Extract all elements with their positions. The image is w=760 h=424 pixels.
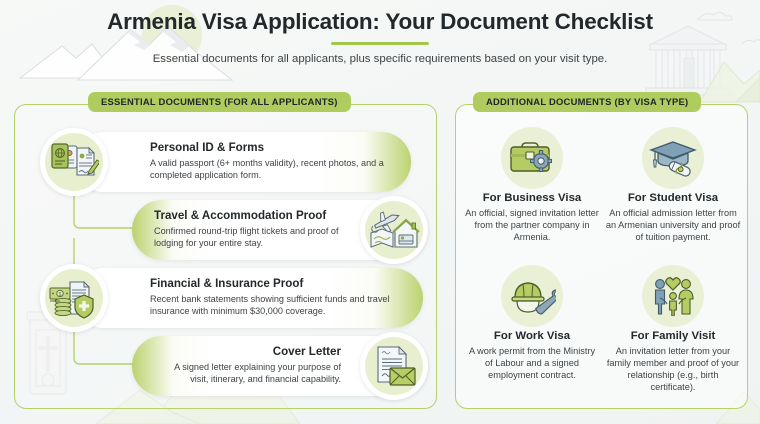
- visa-description: A work permit from the Ministry of Labou…: [464, 346, 600, 382]
- card-description: A valid passport (6+ months validity), r…: [150, 157, 389, 181]
- graduation-cap-diploma-icon: [642, 127, 704, 189]
- visa-title: For Work Visa: [464, 330, 600, 344]
- letter-envelope-icon: [360, 332, 428, 400]
- card-title: Cover Letter: [154, 345, 341, 359]
- card-title: Personal ID & Forms: [150, 141, 389, 155]
- visa-title: For Student Visa: [605, 192, 741, 206]
- hardhat-wrench-icon: [501, 265, 563, 327]
- visa-description: An official admission letter from an Arm…: [605, 208, 741, 244]
- card-description: Recent bank statements showing sufficien…: [150, 293, 401, 317]
- family-heart-icon: [642, 265, 704, 327]
- page-title: Armenia Visa Application: Your Document …: [0, 8, 760, 36]
- page-subtitle: Essential documents for all applicants, …: [0, 52, 760, 67]
- passport-id-form-icon: [40, 128, 108, 196]
- money-shield-icon: $: [40, 264, 108, 332]
- visa-cell-business: For Business Visa An official, signed in…: [464, 127, 600, 244]
- title-divider: [331, 42, 429, 45]
- svg-text:$: $: [59, 292, 62, 298]
- visa-description: An invitation letter from your family me…: [605, 346, 741, 394]
- visa-title: For Family Visit: [605, 330, 741, 344]
- checklist-card-financial-insurance: Financial & Insurance Proof Recent bank …: [74, 268, 423, 328]
- visa-cell-family: For Family Visit An invitation letter fr…: [605, 265, 741, 394]
- card-description: A signed letter explaining your purpose …: [154, 361, 341, 385]
- card-description: Confirmed round-trip flight tickets and …: [154, 225, 341, 249]
- visa-cell-student: For Student Visa An official admission l…: [605, 127, 741, 244]
- checklist-card-personal-id: Personal ID & Forms A valid passport (6+…: [74, 132, 411, 192]
- additional-documents-badge: ADDITIONAL DOCUMENTS (BY VISA TYPE): [473, 92, 701, 112]
- visa-cell-work: For Work Visa A work permit from the Min…: [464, 265, 600, 382]
- page-header: Armenia Visa Application: Your Document …: [0, 8, 760, 67]
- briefcase-gear-icon: [501, 127, 563, 189]
- visa-description: An official, signed invitation letter fr…: [464, 208, 600, 244]
- card-title: Financial & Insurance Proof: [150, 277, 401, 291]
- essential-documents-badge: ESSENTIAL DOCUMENTS (FOR ALL APPLICANTS): [88, 92, 351, 112]
- card-title: Travel & Accommodation Proof: [154, 209, 341, 223]
- visa-title: For Business Visa: [464, 192, 600, 206]
- infographic-page: Armenia Visa Application: Your Document …: [0, 0, 760, 424]
- plane-house-icon: [360, 196, 428, 264]
